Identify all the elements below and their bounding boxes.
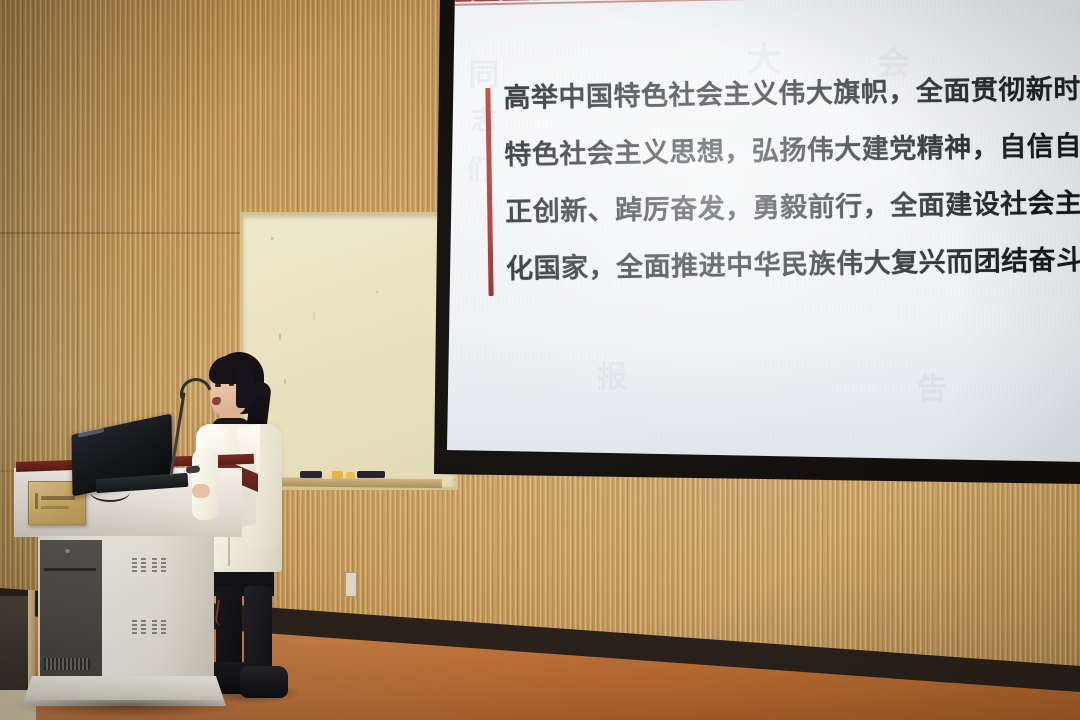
podium-speaker-grill	[44, 658, 90, 670]
presenter-boot	[240, 666, 288, 698]
slide-accent-bar	[485, 88, 493, 296]
presenter-eye	[215, 384, 221, 387]
slide-line: 特色社会主义思想，弘扬伟大建党精神，自信自强、守	[504, 118, 1061, 184]
tray-item-marker	[346, 472, 355, 479]
wall-switch-plate	[345, 572, 357, 597]
podium-panel-slot	[44, 568, 96, 571]
podium-indicator-light	[65, 549, 70, 553]
projection-screen: 同 志 们 大 会 报 告 高举中国特色社会主义伟大旗帜，全面贯彻新时代中国 特…	[447, 0, 1080, 472]
tray-item-eraser	[357, 471, 385, 478]
slide-line: 正创新、踔厉奋发，勇毅前行，全面建设社会主义现代	[505, 175, 1062, 241]
slide-line: 高举中国特色社会主义伟大旗帜，全面贯彻新时代中国	[503, 61, 1060, 127]
photo-scene: 同 志 们 大 会 报 告 高举中国特色社会主义伟大旗帜，全面贯彻新时代中国 特…	[0, 0, 1080, 720]
slide-watermark: 告	[917, 364, 949, 408]
presenter-hand	[192, 484, 210, 498]
slide-text-block: 高举中国特色社会主义伟大旗帜，全面贯彻新时代中国 特色社会主义思想，弘扬伟大建党…	[503, 61, 1063, 298]
tray-item-marker	[332, 471, 343, 478]
microphone-cable	[90, 482, 130, 502]
slide-line: 化国家，全面推进中华民族伟大复兴而团结奋斗。	[506, 232, 1063, 298]
tray-item-eraser	[300, 471, 322, 478]
slide-watermark: 报	[597, 352, 629, 396]
podium-shadow	[12, 700, 242, 718]
presenter-hair-side	[236, 368, 254, 408]
tray-item-marker	[323, 472, 332, 479]
